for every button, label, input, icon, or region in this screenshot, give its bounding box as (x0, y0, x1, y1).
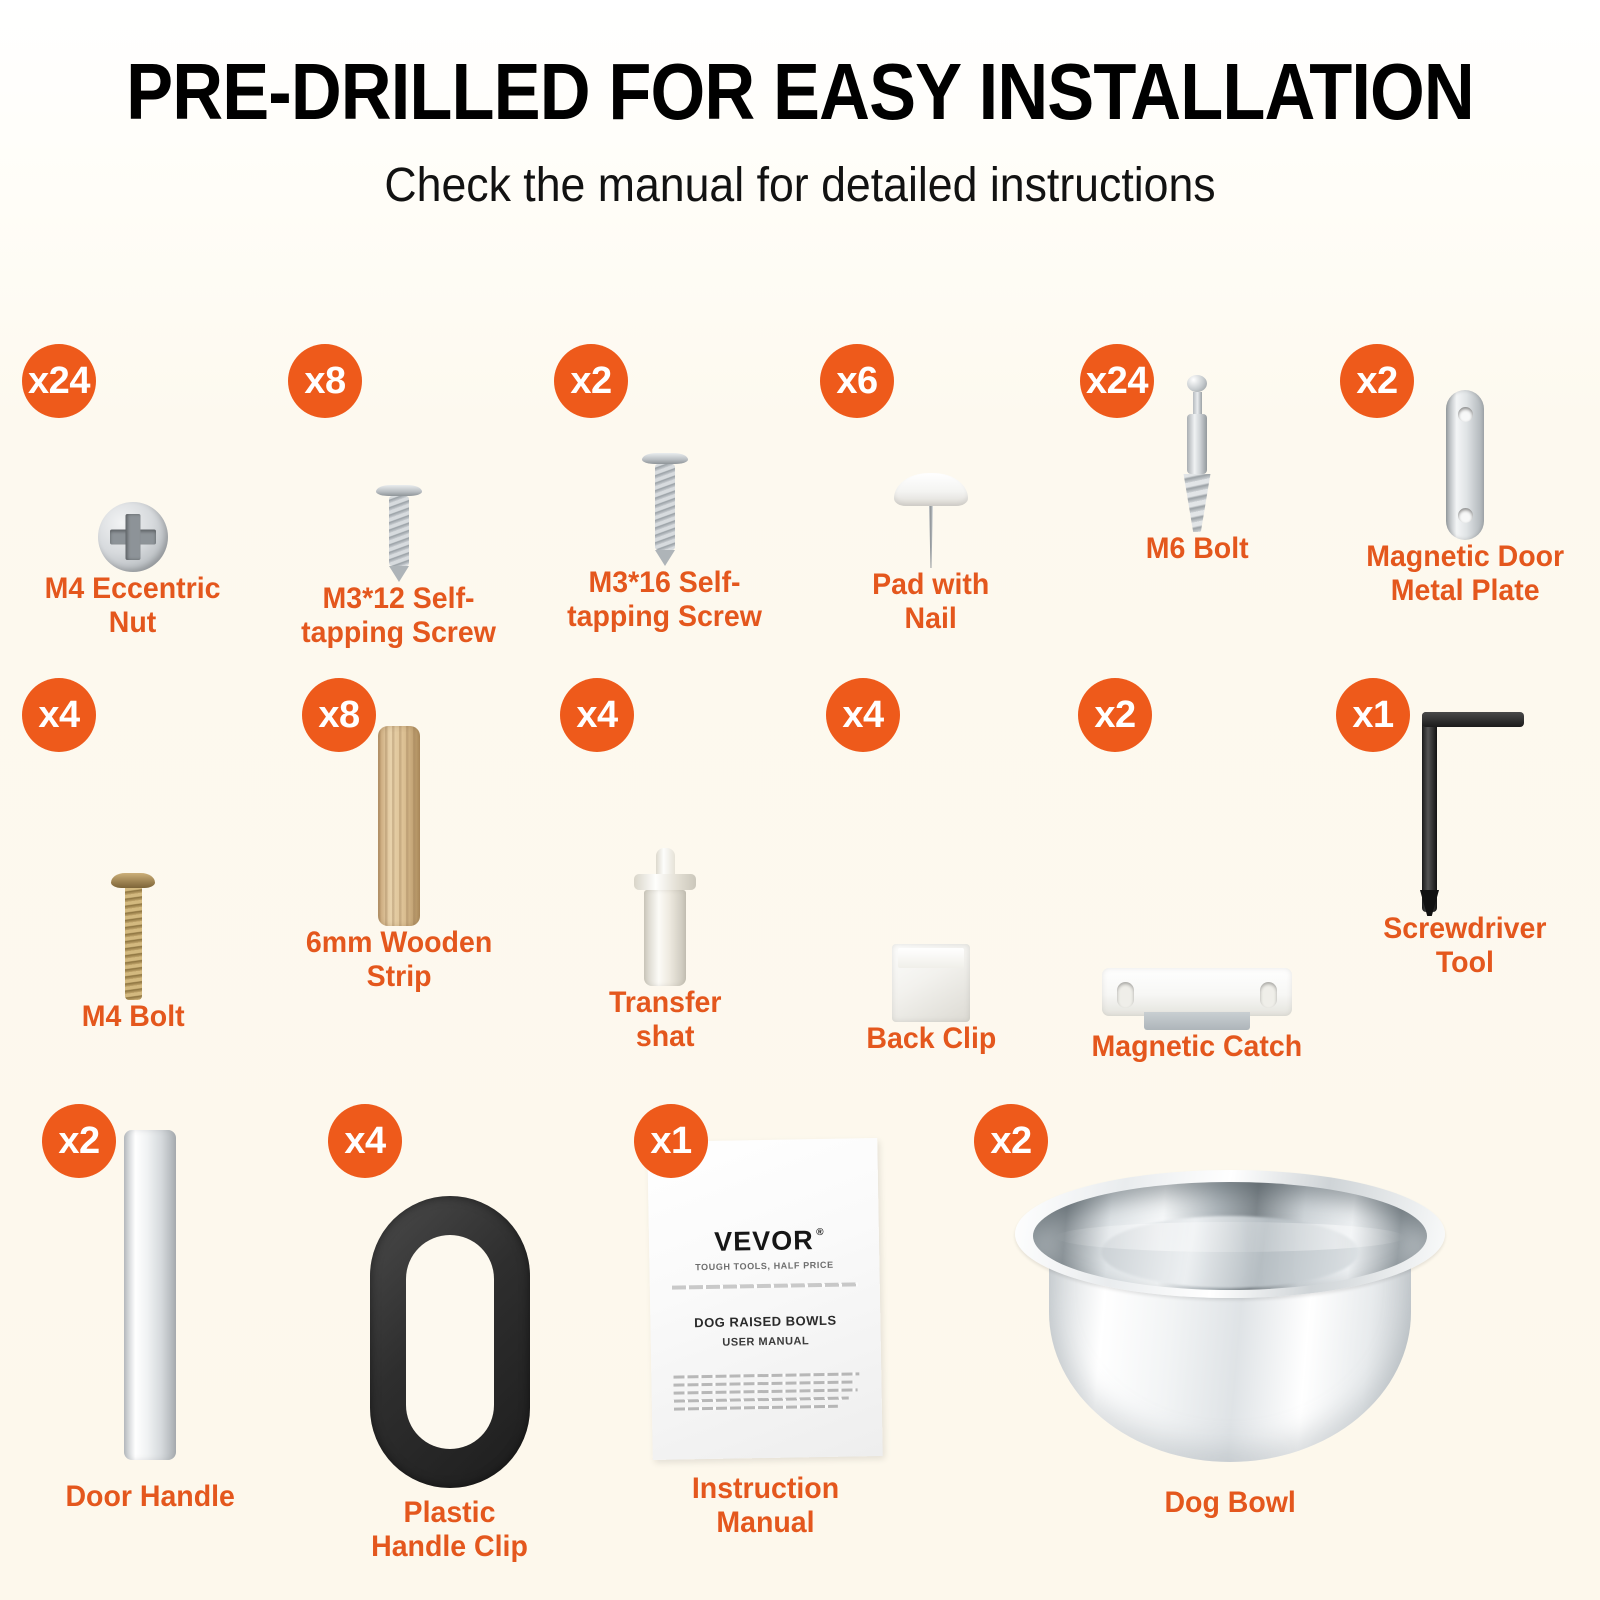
part-label: Magnetic Catch (1092, 1030, 1303, 1064)
part-label: M3*16 Self- tapping Screw (568, 566, 763, 633)
qty-badge: x1 (1336, 678, 1410, 752)
part-label: Plastic Handle Clip (372, 1488, 529, 1563)
self-tapping-screw-icon (642, 330, 688, 566)
allen-key-icon (1406, 670, 1524, 912)
part-label: M4 Bolt (82, 1000, 185, 1034)
part-label: Screwdriver Tool (1383, 912, 1546, 979)
parts-row-3: x2 Door Handle x4 Plastic Handle Clip x1… (0, 1090, 1600, 1563)
dog-bowl-icon (1015, 1090, 1445, 1470)
manual-doc-type: USER MANUAL (722, 1335, 809, 1349)
qty-badge: x4 (328, 1104, 402, 1178)
manual-tagline: TOUGH TOOLS, HALF PRICE (695, 1260, 834, 1272)
part-item-magnetic-door-metal-plate: x2 Magnetic Door Metal Plate (1330, 330, 1600, 649)
part-label: Dog Bowl (1164, 1470, 1295, 1520)
qty-badge: x2 (554, 344, 628, 418)
part-item-dog-bowl: x2 Dog Bowl (930, 1090, 1530, 1563)
qty-badge: x2 (1078, 678, 1152, 752)
infographic-page: PRE-DRILLED FOR EASY INSTALLATION Check … (0, 0, 1600, 1600)
qty-badge: x8 (288, 344, 362, 418)
part-label: M4 Eccentric Nut (45, 572, 221, 639)
header: PRE-DRILLED FOR EASY INSTALLATION Check … (0, 0, 1600, 213)
part-item-m3x12-screw: x8 M3*12 Self- tapping Screw (266, 330, 532, 649)
manual-cover: VEVOR® TOUGH TOOLS, HALF PRICE DOG RAISE… (647, 1138, 883, 1460)
transfer-shaft-icon (634, 670, 696, 986)
page-subtitle: Check the manual for detailed instructio… (56, 132, 1544, 213)
part-item-magnetic-catch: x2 Magnetic Catch (1064, 670, 1330, 1064)
qty-badge: x2 (974, 1104, 1048, 1178)
pad-with-nail-icon (894, 330, 968, 568)
manual-fineprint-line (672, 1282, 858, 1289)
qty-badge: x2 (1340, 344, 1414, 418)
qty-badge: x2 (42, 1104, 116, 1178)
vevor-wordmark: VEVOR (714, 1225, 814, 1257)
m4-bolt-icon (111, 670, 155, 1000)
qty-badge: x6 (820, 344, 894, 418)
part-item-instruction-manual: x1 VEVOR® TOUGH TOOLS, HALF PRICE DOG RA… (600, 1090, 930, 1563)
part-label: 6mm Wooden Strip (306, 926, 492, 993)
qty-badge: x1 (634, 1104, 708, 1178)
part-label: Magnetic Door Metal Plate (1366, 540, 1564, 607)
qty-badge: x4 (22, 678, 96, 752)
back-clip-icon (892, 670, 970, 1022)
qty-badge: x4 (560, 678, 634, 752)
part-item-m4-eccentric-nut: x24 M4 Eccentric Nut (0, 330, 266, 649)
eccentric-nut-icon (98, 330, 168, 572)
parts-row-2: x4 M4 Bolt x8 6mm Wooden Strip x4 Transf… (0, 670, 1600, 1064)
part-item-m4-bolt: x4 M4 Bolt (0, 670, 266, 1064)
part-item-transfer-shaft: x4 Transfer shat (532, 670, 798, 1064)
part-label: M6 Bolt (1146, 532, 1249, 566)
part-item-plastic-handle-clip: x4 Plastic Handle Clip (300, 1090, 600, 1563)
part-label: M3*12 Self- tapping Screw (302, 582, 497, 649)
vevor-logo: VEVOR® (714, 1225, 814, 1258)
part-item-m3x16-screw: x2 M3*16 Self- tapping Screw (532, 330, 798, 649)
manual-body-text (673, 1372, 860, 1415)
qty-badge: x24 (1080, 344, 1154, 418)
part-item-m6-bolt: x24 M6 Bolt (1064, 330, 1330, 649)
part-label: Pad with Nail (872, 568, 989, 635)
part-label: Instruction Manual (691, 1458, 838, 1539)
registered-icon: ® (816, 1227, 825, 1238)
qty-badge: x24 (22, 344, 96, 418)
part-item-6mm-wooden-strip: x8 6mm Wooden Strip (266, 670, 532, 1064)
part-label: Back Clip (866, 1022, 996, 1056)
part-label: Transfer shat (609, 986, 721, 1053)
part-item-back-clip: x4 Back Clip (798, 670, 1064, 1064)
manual-product-title: DOG RAISED BOWLS (694, 1313, 837, 1330)
qty-badge: x4 (826, 678, 900, 752)
door-handle-icon (124, 1090, 176, 1460)
m6-bolt-icon (1175, 330, 1219, 532)
part-item-screwdriver-tool: x1 Screwdriver Tool (1330, 670, 1600, 1064)
part-item-pad-with-nail: x6 Pad with Nail (798, 330, 1064, 649)
part-item-door-handle: x2 Door Handle (0, 1090, 300, 1563)
parts-row-1: x24 M4 Eccentric Nut x8 M3*12 Self- tapp… (0, 330, 1600, 649)
qty-badge: x8 (302, 678, 376, 752)
part-label: Door Handle (65, 1460, 234, 1514)
metal-plate-icon (1446, 330, 1484, 540)
page-title: PRE-DRILLED FOR EASY INSTALLATION (96, 0, 1504, 132)
wooden-dowel-icon (378, 670, 420, 926)
self-tapping-screw-icon (376, 330, 422, 582)
